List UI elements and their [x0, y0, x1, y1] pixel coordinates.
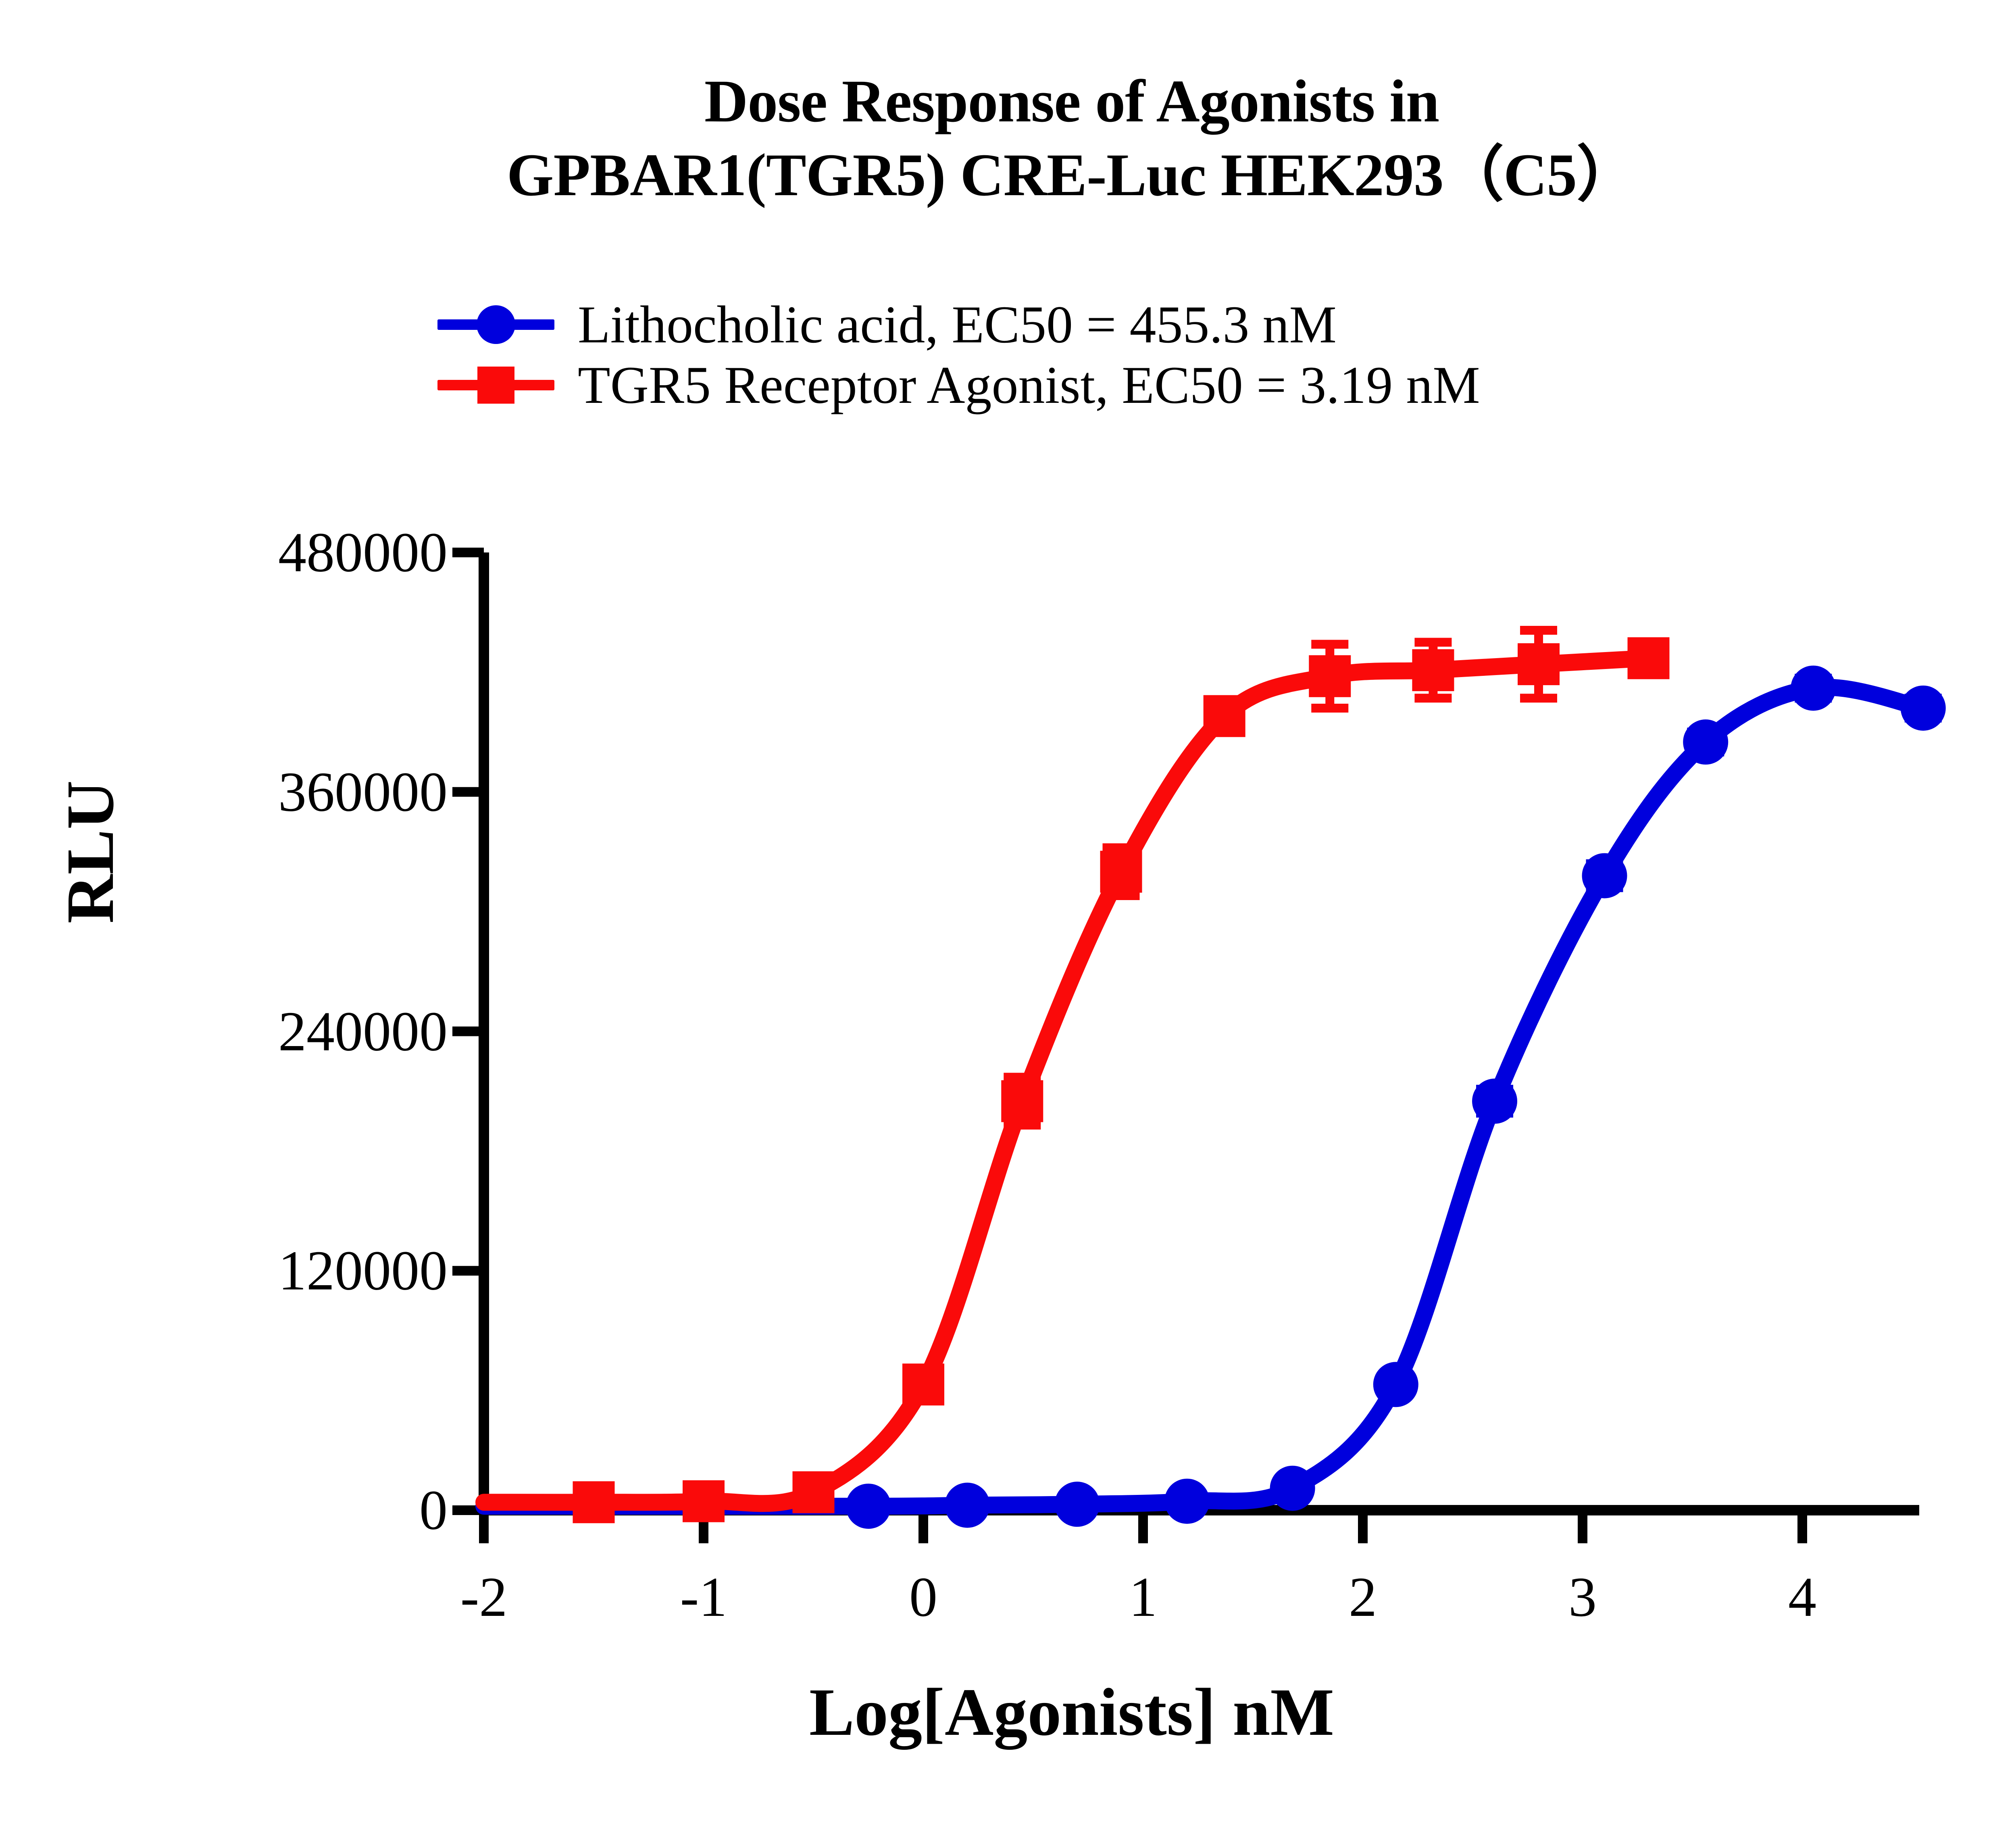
- series-curve: [484, 658, 1649, 1503]
- data-point-circle: [1164, 1479, 1210, 1524]
- data-point-square: [1204, 695, 1245, 737]
- data-point-circle: [945, 1483, 990, 1528]
- data-point-circle: [1582, 853, 1627, 898]
- data-point-square: [793, 1471, 835, 1513]
- data-point-square: [683, 1480, 725, 1522]
- data-point-circle: [846, 1484, 891, 1529]
- data-point-circle: [1791, 665, 1836, 711]
- data-point-circle: [1472, 1079, 1517, 1124]
- axis-lines: [452, 552, 1919, 1543]
- data-point-circle: [1683, 719, 1728, 765]
- data-point-square: [1412, 649, 1454, 691]
- data-point-circle: [1901, 686, 1946, 731]
- data-point-square: [573, 1481, 615, 1523]
- data-point-square: [1628, 637, 1670, 679]
- data-point-square: [1100, 851, 1142, 893]
- data-point-square: [1518, 643, 1560, 685]
- data-point-square: [1309, 655, 1351, 697]
- data-point-circle: [1270, 1466, 1315, 1511]
- data-point-square: [902, 1363, 944, 1405]
- data-point-circle: [1373, 1362, 1418, 1407]
- data-series-layer: [484, 630, 1946, 1529]
- data-point-circle: [1055, 1482, 1100, 1527]
- chart-figure: Dose Response of Agonists in GPBAR1(TGR5…: [0, 0, 2016, 1830]
- plot-area: [0, 0, 2016, 1830]
- data-point-square: [1001, 1080, 1043, 1122]
- series-curve: [484, 687, 1923, 1506]
